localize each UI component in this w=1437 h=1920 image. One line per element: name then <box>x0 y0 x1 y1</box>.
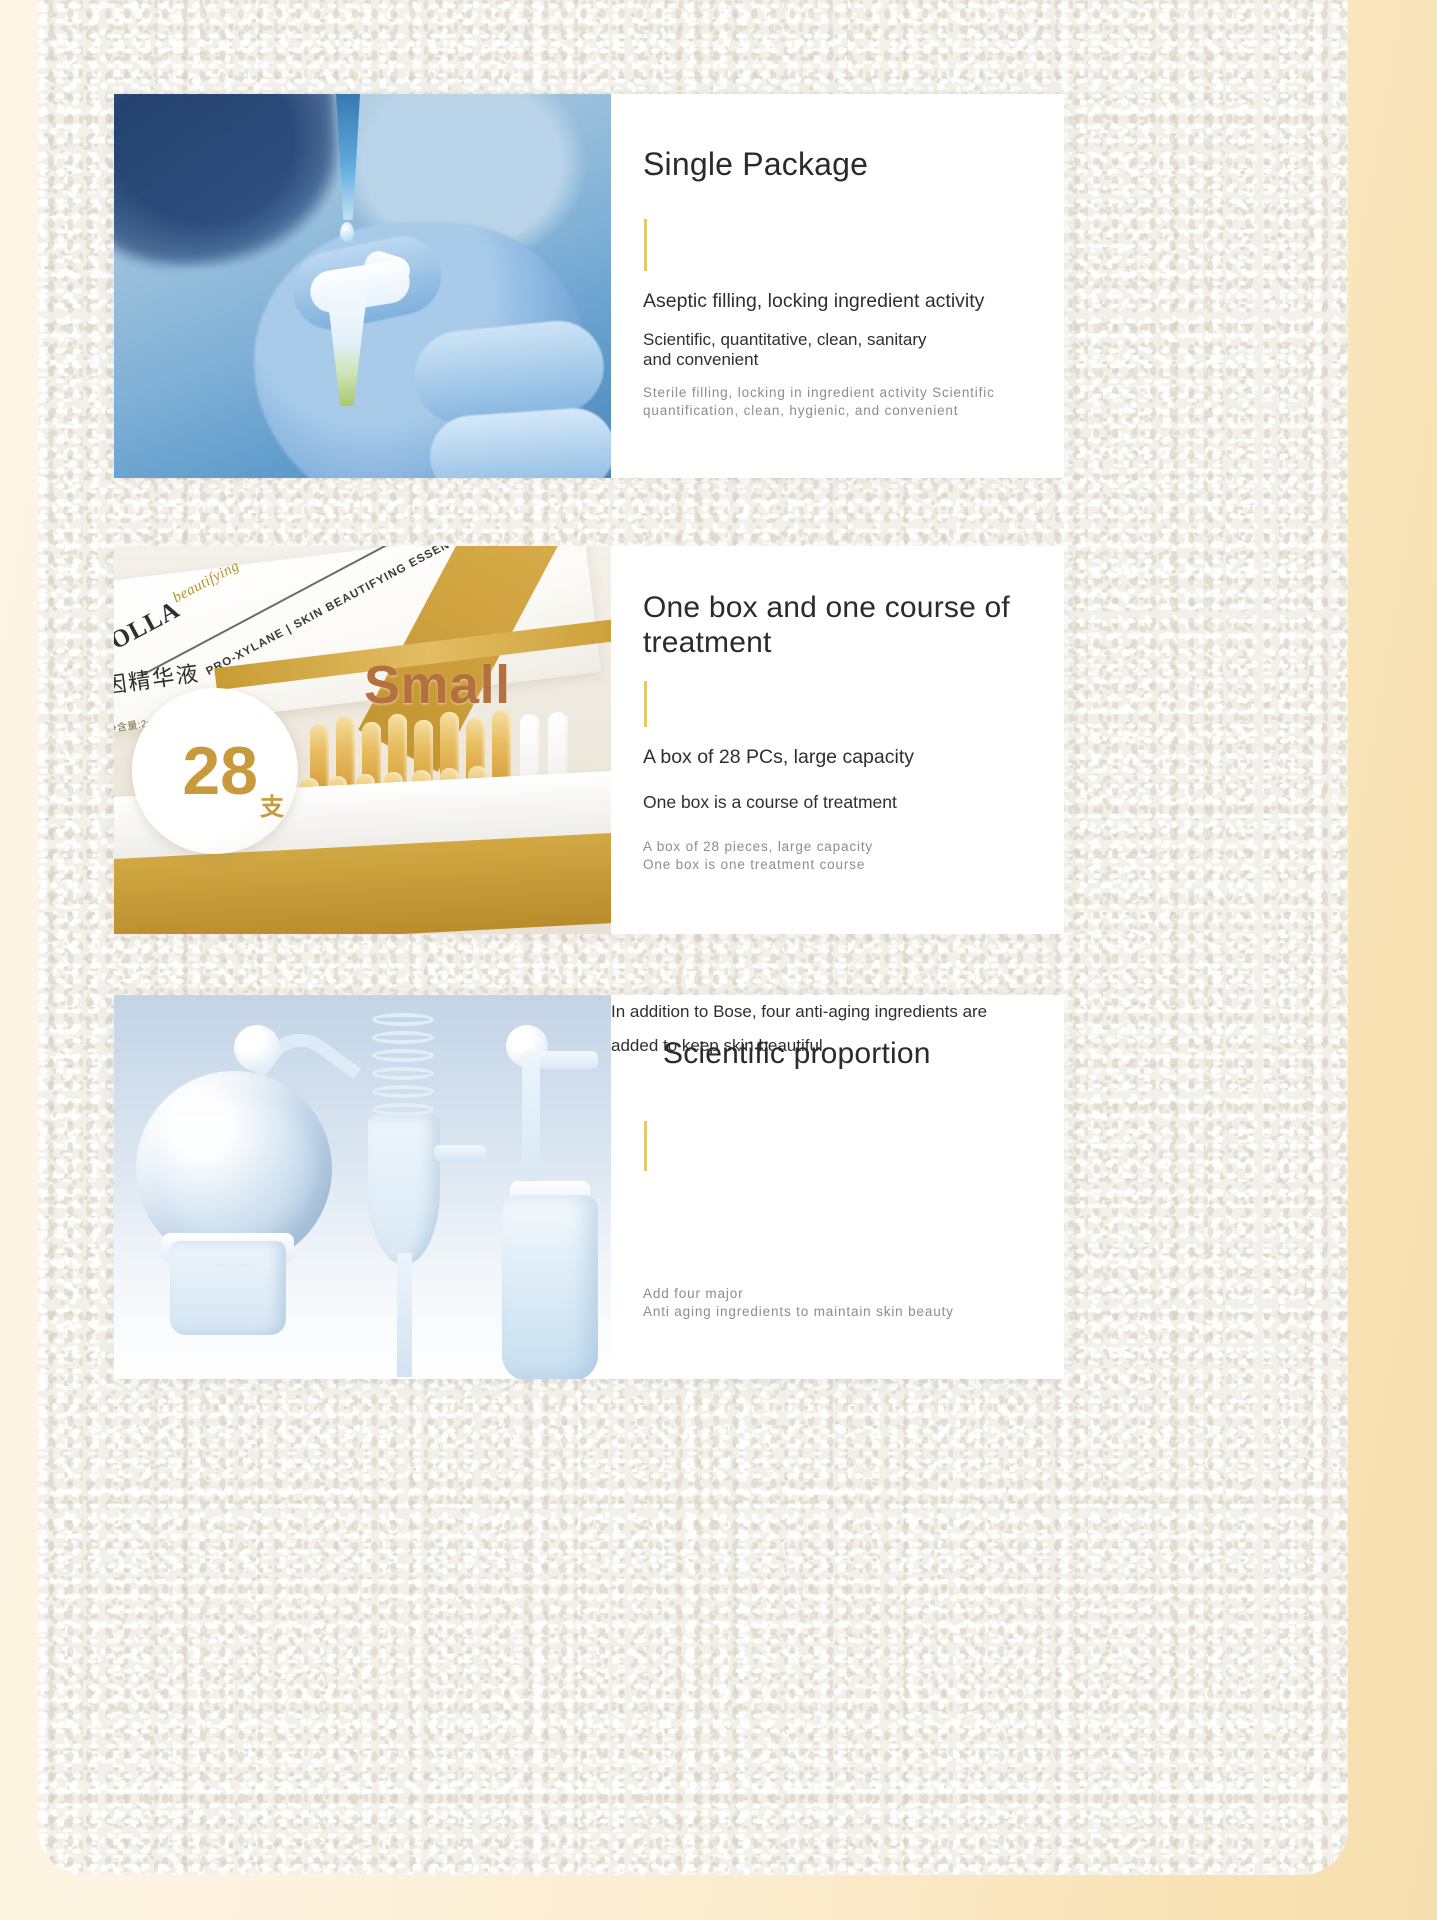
card-1-fineprint-line-1: Sterile filling, locking in ingredient a… <box>643 384 995 402</box>
card-2-title: One box and one course of treatment <box>643 590 1043 660</box>
card-3-content: Scientific proportion In addition to Bos… <box>611 995 1064 1379</box>
card-1-accent-rule <box>644 219 647 271</box>
laboratory-glassware-photo <box>114 995 611 1379</box>
quantity-badge-number: 28 <box>182 737 258 805</box>
card-3-fineprint-line-1: Add four major <box>643 1285 954 1303</box>
small-overlay-text: Small <box>364 654 511 716</box>
quantity-badge: 28 支 <box>132 688 298 854</box>
card-1-fineprint-line-2: quantification, clean, hygienic, and con… <box>643 402 995 420</box>
card-3-title: Scientific proportion <box>663 1037 931 1071</box>
card-3-body-line-1: In addition to Bose, four anti-aging ing… <box>611 995 991 1029</box>
card-1-subtext: Scientific, quantitative, clean, sanitar… <box>643 330 926 371</box>
card-2-accent-rule <box>644 681 647 727</box>
card-1-subtext-line-1: Scientific, quantitative, clean, sanitar… <box>643 330 926 350</box>
feature-card-single-package[interactable]: Single Package Aseptic filling, locking … <box>114 94 1064 478</box>
card-2-fineprint-line-1: A box of 28 pieces, large capacity <box>643 838 873 856</box>
vial-shape <box>502 1195 598 1379</box>
drape-shape <box>114 94 334 264</box>
feature-card-scientific-proportion[interactable]: Scientific proportion In addition to Bos… <box>114 995 1064 1379</box>
ampoule-box-photo: beautifying OLLA PRO-XYLANE | SKIN BEAUT… <box>114 546 611 934</box>
card-3-fineprint-line-2: Anti aging ingredients to maintain skin … <box>643 1303 954 1321</box>
feature-card-one-box-one-course[interactable]: beautifying OLLA PRO-XYLANE | SKIN BEAUT… <box>114 546 1064 934</box>
card-1-lead: Aseptic filling, locking ingredient acti… <box>643 290 984 313</box>
card-2-content: One box and one course of treatment A bo… <box>611 546 1064 934</box>
card-3-fineprint: Add four major Anti aging ingredients to… <box>643 1285 954 1321</box>
card-2-lead: A box of 28 PCs, large capacity <box>643 746 914 769</box>
card-1-subtext-line-2: and convenient <box>643 350 926 370</box>
card-2-fineprint-line-2: One box is one treatment course <box>643 856 873 874</box>
stem-shape <box>397 1253 412 1377</box>
flask-neck-shape <box>170 1241 286 1335</box>
card-1-fineprint: Sterile filling, locking in ingredient a… <box>643 384 995 420</box>
card-3-accent-rule <box>644 1121 647 1171</box>
condenser-shape <box>368 1115 440 1265</box>
spout-shape <box>434 1145 486 1161</box>
card-2-subtext: One box is a course of treatment <box>643 792 897 813</box>
card-1-title: Single Package <box>643 146 868 183</box>
card-2-fineprint: A box of 28 pieces, large capacity One b… <box>643 838 873 874</box>
lab-pipette-photo <box>114 94 611 478</box>
droplet-icon <box>340 222 354 242</box>
pipette-icon <box>328 94 368 220</box>
card-1-content: Single Package Aseptic filling, locking … <box>611 94 1064 478</box>
flask-bulb-shape <box>234 1025 280 1071</box>
quantity-badge-unit: 支 <box>260 787 284 822</box>
